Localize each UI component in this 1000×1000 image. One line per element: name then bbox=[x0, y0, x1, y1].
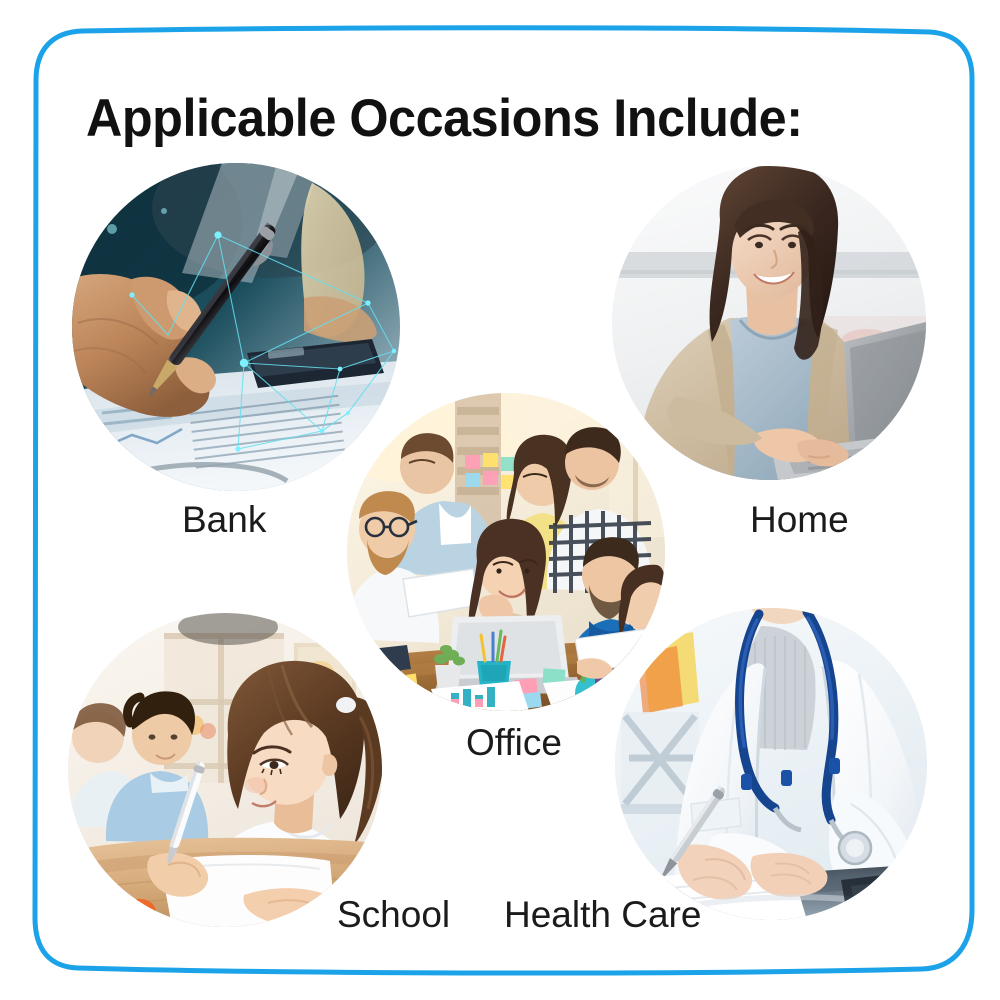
occasion-image-school bbox=[68, 613, 382, 927]
school-photo bbox=[68, 613, 382, 927]
infographic-page: Applicable Occasions Include: bbox=[0, 0, 1000, 1000]
occasion-label-healthcare: Health Care bbox=[504, 894, 701, 936]
occasion-label-bank: Bank bbox=[182, 499, 266, 541]
occasion-label-home: Home bbox=[750, 499, 849, 541]
page-title: Applicable Occasions Include: bbox=[86, 88, 803, 149]
occasion-label-office: Office bbox=[466, 722, 562, 764]
occasion-image-healthcare bbox=[615, 608, 927, 920]
healthcare-photo bbox=[615, 608, 927, 920]
occasion-label-school: School bbox=[337, 894, 450, 936]
